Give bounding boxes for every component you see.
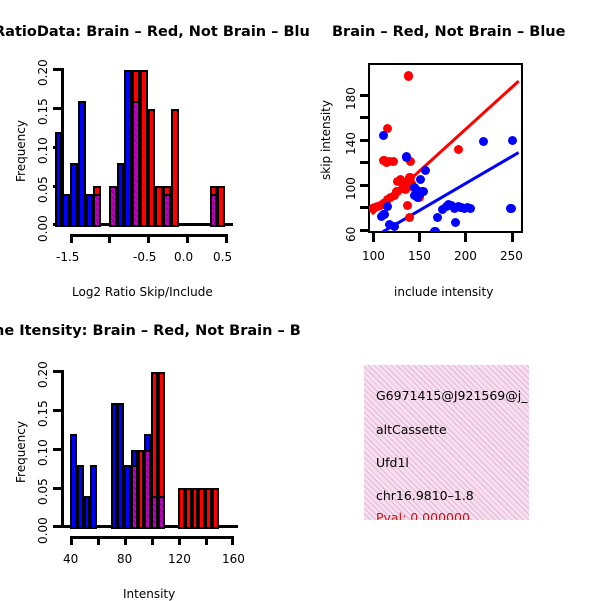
intensity-x-tick-80: 80 [117,552,132,566]
scatter-y-tick-140: 140 [344,132,358,155]
histogram-bar-not-brain [70,434,77,529]
scatter-ylabel: skip intensity [319,100,333,180]
scatter-x-tick-150: 150 [408,249,431,263]
scatter-point-not-brain [390,222,399,231]
histogram-bar-brain [192,488,199,529]
scatter-x-tickmark-200 [464,233,467,242]
panel-scatter: Brain – Red, Not Brain – Blue skip inten… [300,0,600,300]
histogram-bar-not-brain [124,465,131,529]
histogram-bar-overlap [210,194,218,227]
info-event-type: altCassette [376,422,447,437]
info-pval: Pval: 0.000000 [376,510,470,520]
histogram-bar-brain [138,450,145,530]
intensity-x-tickmark-140 [205,536,208,545]
ratio-histogram-xlabel: Log2 Ratio Skip/Include [72,285,213,299]
ratio-x-tick-0.5: 0.5 [213,250,232,264]
scatter-point-not-brain [416,175,425,184]
intensity-x-tickmark-160 [231,536,234,545]
ratio-x-tickmark--1.0 [108,234,111,243]
histogram-bar-overlap [151,496,158,529]
scatter-y-tickmark-140 [360,139,369,142]
gene-info-box: G6971415@J921569@j_ altCassette Ufd1l ch… [364,365,529,520]
intensity-x-tickmark-60 [97,536,100,545]
scatter-xlabel: include intensity [394,285,493,299]
histogram-bar-not-brain [90,465,97,529]
scatter-y-tickmark-160 [360,116,369,119]
scatter-point-not-brain [421,166,430,175]
scatter-point-not-brain [413,193,422,202]
figure-canvas: RatioData: Brain – Red, Not Brain – Blu … [0,0,600,600]
scatter-y-tickmark-80 [360,206,369,209]
histogram-bar-brain [148,109,156,227]
intensity-x-tick-40: 40 [63,552,78,566]
scatter-point-not-brain [433,213,442,222]
panel-intensity-histogram: ne Itensity: Brain – Red, Not Brain – B … [0,300,300,600]
scatter-point-not-brain [430,227,439,232]
scatter-title: Brain – Red, Not Brain – Blue [332,24,565,40]
scatter-y-tickmark-120 [360,161,369,164]
histogram-bar-not-brain [78,101,86,227]
scatter-point-not-brain [402,152,411,161]
histogram-bar-not-brain [117,163,125,227]
ratio-x-tick-0.0: 0.0 [174,250,193,264]
histogram-bar-brain [205,488,212,529]
intensity-x-tickmark-120 [178,536,181,545]
histogram-bar-brain [155,186,163,227]
scatter-point-brain [369,204,378,213]
histogram-bar-brain [212,488,219,529]
panel-info: G6971415@J921569@j_ altCassette Ufd1l ch… [300,300,600,600]
scatter-x-tickmark-100 [372,233,375,242]
ratio-x-tickmark--0.5 [147,234,150,243]
scatter-point-brain [404,71,413,80]
intensity-x-tickmark-40 [70,536,73,545]
scatter-point-not-brain [379,131,388,140]
scatter-x-tick-250: 250 [500,249,523,263]
scatter-y-tick-180: 180 [344,87,358,110]
histogram-bar-overlap [131,465,138,529]
intensity-x-tick-160: 160 [222,552,245,566]
histogram-bar-not-brain [111,403,118,529]
intensity-histogram-xlabel: Intensity [123,587,175,601]
info-gene-symbol: Ufd1l [376,455,409,470]
scatter-x-tick-200: 200 [454,249,477,263]
scatter-x-tickmark-250 [511,233,514,242]
histogram-bar-overlap [109,186,117,227]
scatter-point-brain [389,157,398,166]
scatter-y-tickmark-180 [360,94,369,97]
ratio-x-tickmark-0.0 [186,234,189,243]
scatter-point-not-brain [466,204,475,213]
intensity-x-tick-120: 120 [168,552,191,566]
ratio-x-tickmark-0.5 [225,234,228,243]
scatter-point-not-brain [377,212,386,221]
ratio-x-tick--0.5: -0.5 [133,250,156,264]
scatter-point-not-brain [506,204,515,213]
scatter-point-not-brain [479,137,488,146]
histogram-bar-overlap [163,194,171,227]
info-locus: chr16.9810–1.8 [376,488,474,503]
histogram-bar-brain [178,488,185,529]
panel-ratio-histogram: RatioData: Brain – Red, Not Brain – Blu … [0,0,300,300]
scatter-points-layer [369,64,522,232]
intensity-x-tickmark-100 [151,536,154,545]
scatter-y-tickmark-60 [360,229,369,232]
intensity-x-tickmark-80 [124,536,127,545]
scatter-y-tick-60: 60 [344,227,358,242]
histogram-bar-overlap [93,194,101,227]
scatter-y-tickmark-100 [360,184,369,187]
scatter-x-tickmark-150 [418,233,421,242]
scatter-point-brain [403,201,412,210]
histogram-bar-overlap [132,101,140,227]
info-gene-id: G6971415@J921569@j_ [376,388,527,403]
histogram-bar-brain [217,186,225,227]
scatter-point-not-brain [451,218,460,227]
intensity-histogram-bars [0,300,300,600]
scatter-point-not-brain [508,136,517,145]
ratio-x-tick--1.5: -1.5 [56,250,79,264]
histogram-bar-not-brain [84,496,91,529]
histogram-bar-not-brain [70,163,78,227]
scatter-x-tick-100: 100 [362,249,385,263]
histogram-bar-brain [171,109,179,227]
histogram-bar-not-brain [62,194,70,227]
histogram-bar-overlap [158,496,165,529]
histogram-bar-not-brain [124,70,132,227]
histogram-bar-brain [140,70,148,227]
ratio-x-tickmark--1.5 [70,234,73,243]
scatter-y-tick-100: 100 [344,177,358,200]
scatter-point-brain [405,213,414,222]
histogram-bar-not-brain [55,132,63,227]
scatter-point-brain [454,145,463,154]
histogram-bar-not-brain [86,194,94,227]
